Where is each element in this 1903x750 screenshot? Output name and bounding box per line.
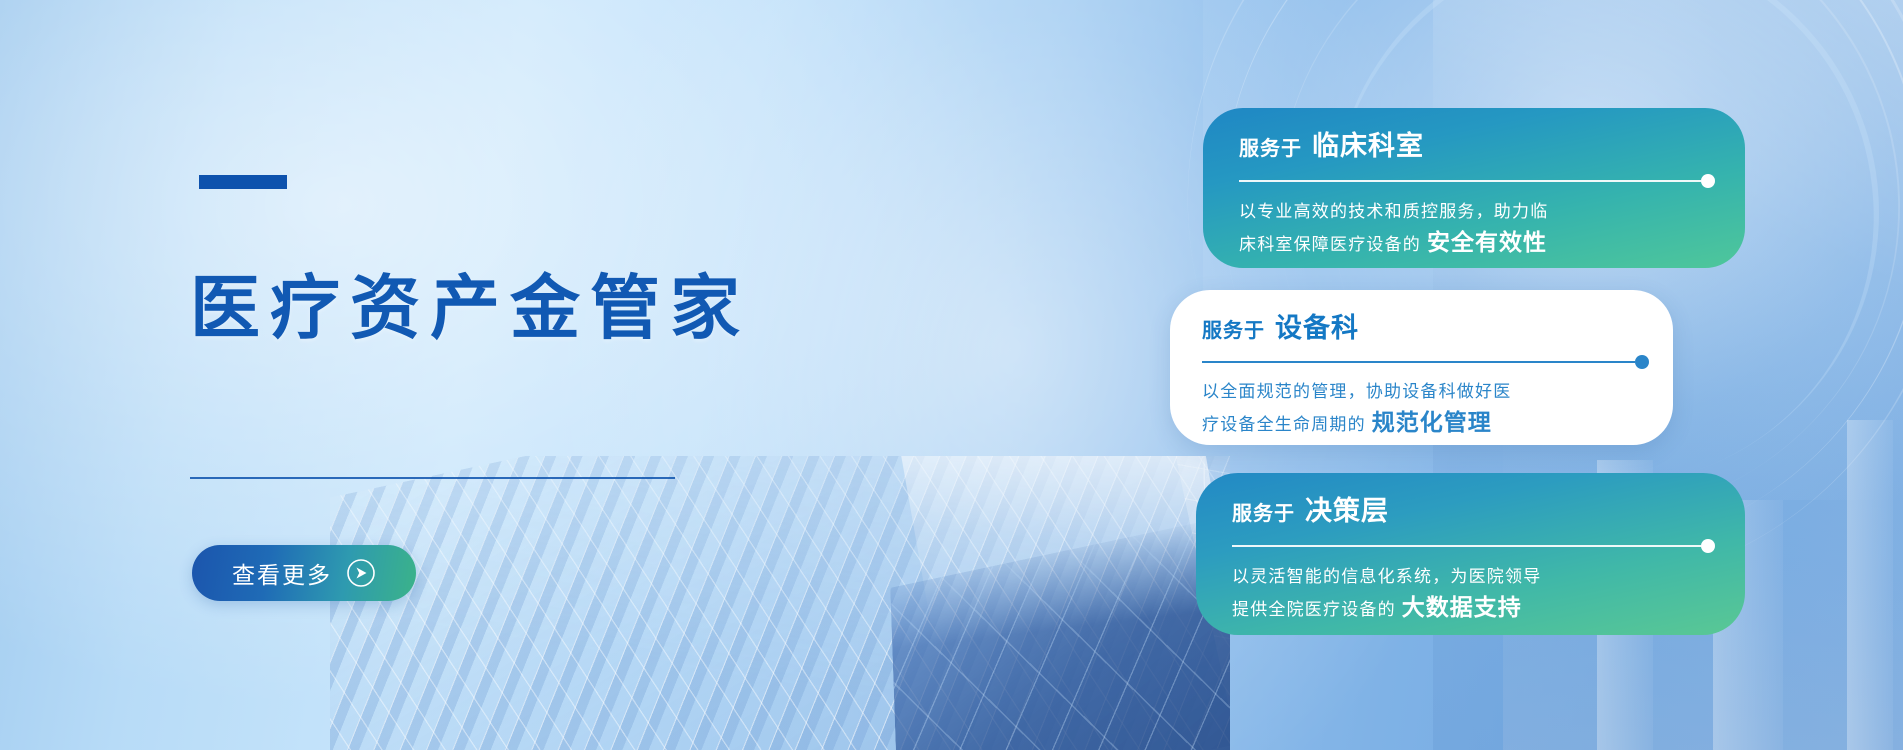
- card-rule-line: [1202, 361, 1635, 363]
- card-body-line2: 床科室保障医疗设备的 安全有效性: [1239, 227, 1709, 260]
- service-card-decision-layer[interactable]: 服务于 决策层 以灵活智能的信息化系统，为医院领导 提供全院医疗设备的 大数据支…: [1196, 473, 1745, 635]
- view-more-button[interactable]: 查看更多: [192, 545, 416, 601]
- section-divider: [190, 477, 675, 479]
- service-card-clinical[interactable]: 服务于 临床科室 以专业高效的技术和质控服务，助力临 床科室保障医疗设备的 安全…: [1203, 108, 1745, 268]
- card-body-line2: 提供全院医疗设备的 大数据支持: [1232, 592, 1702, 625]
- card-heading-target: 设备科: [1275, 306, 1359, 345]
- facade-dark-edge: [890, 500, 1230, 750]
- corridor-pillar: [1847, 420, 1893, 750]
- view-more-label: 查看更多: [232, 556, 332, 590]
- card-body-line1: 以专业高效的技术和质控服务，助力临: [1239, 196, 1709, 227]
- card-heading: 服务于 设备科: [1202, 306, 1359, 345]
- card-heading-target: 临床科室: [1312, 124, 1424, 163]
- arrow-right-circle-icon: [346, 558, 376, 588]
- facade-light-spine: [901, 456, 1230, 750]
- card-rule-dot-icon: [1701, 539, 1715, 553]
- hero-banner: 医疗资产金管家 查看更多 服务于 临床科室 以专业高效的技术和质控服务，助力临 …: [0, 0, 1903, 750]
- card-rule-line: [1232, 545, 1701, 547]
- card-heading: 服务于 决策层: [1232, 489, 1389, 528]
- card-heading-prefix: 服务于: [1202, 314, 1265, 343]
- title-accent-bar: [199, 175, 287, 189]
- card-heading-prefix: 服务于: [1232, 497, 1295, 526]
- card-body-line2-plain: 提供全院医疗设备的: [1232, 600, 1396, 619]
- card-body: 以灵活智能的信息化系统，为医院领导 提供全院医疗设备的 大数据支持: [1232, 561, 1702, 625]
- card-rule: [1232, 539, 1715, 553]
- card-body-line2-strong: 安全有效性: [1427, 229, 1547, 255]
- card-body-line1: 以全面规范的管理，协助设备科做好医: [1202, 376, 1642, 407]
- card-body-line1: 以灵活智能的信息化系统，为医院领导: [1232, 561, 1702, 592]
- card-body: 以专业高效的技术和质控服务，助力临 床科室保障医疗设备的 安全有效性: [1239, 196, 1709, 260]
- hero-left-column: 医疗资产金管家 查看更多: [0, 0, 760, 750]
- card-heading: 服务于 临床科室: [1239, 124, 1424, 163]
- service-card-equipment-dept[interactable]: 服务于 设备科 以全面规范的管理，协助设备科做好医 疗设备全生命周期的 规范化管…: [1170, 290, 1673, 445]
- card-body: 以全面规范的管理，协助设备科做好医 疗设备全生命周期的 规范化管理: [1202, 376, 1642, 440]
- card-rule: [1202, 355, 1649, 369]
- card-body-line2-strong: 规范化管理: [1372, 409, 1492, 435]
- card-rule-dot-icon: [1701, 174, 1715, 188]
- card-body-line2-plain: 疗设备全生命周期的: [1202, 415, 1366, 434]
- card-rule-dot-icon: [1635, 355, 1649, 369]
- card-body-line2-strong: 大数据支持: [1402, 594, 1522, 620]
- card-rule-line: [1239, 180, 1701, 182]
- card-body-line2-plain: 床科室保障医疗设备的: [1239, 235, 1421, 254]
- page-title: 医疗资产金管家: [190, 252, 750, 353]
- card-heading-prefix: 服务于: [1239, 132, 1302, 161]
- card-body-line2: 疗设备全生命周期的 规范化管理: [1202, 407, 1642, 440]
- card-rule: [1239, 174, 1715, 188]
- card-heading-target: 决策层: [1305, 489, 1389, 528]
